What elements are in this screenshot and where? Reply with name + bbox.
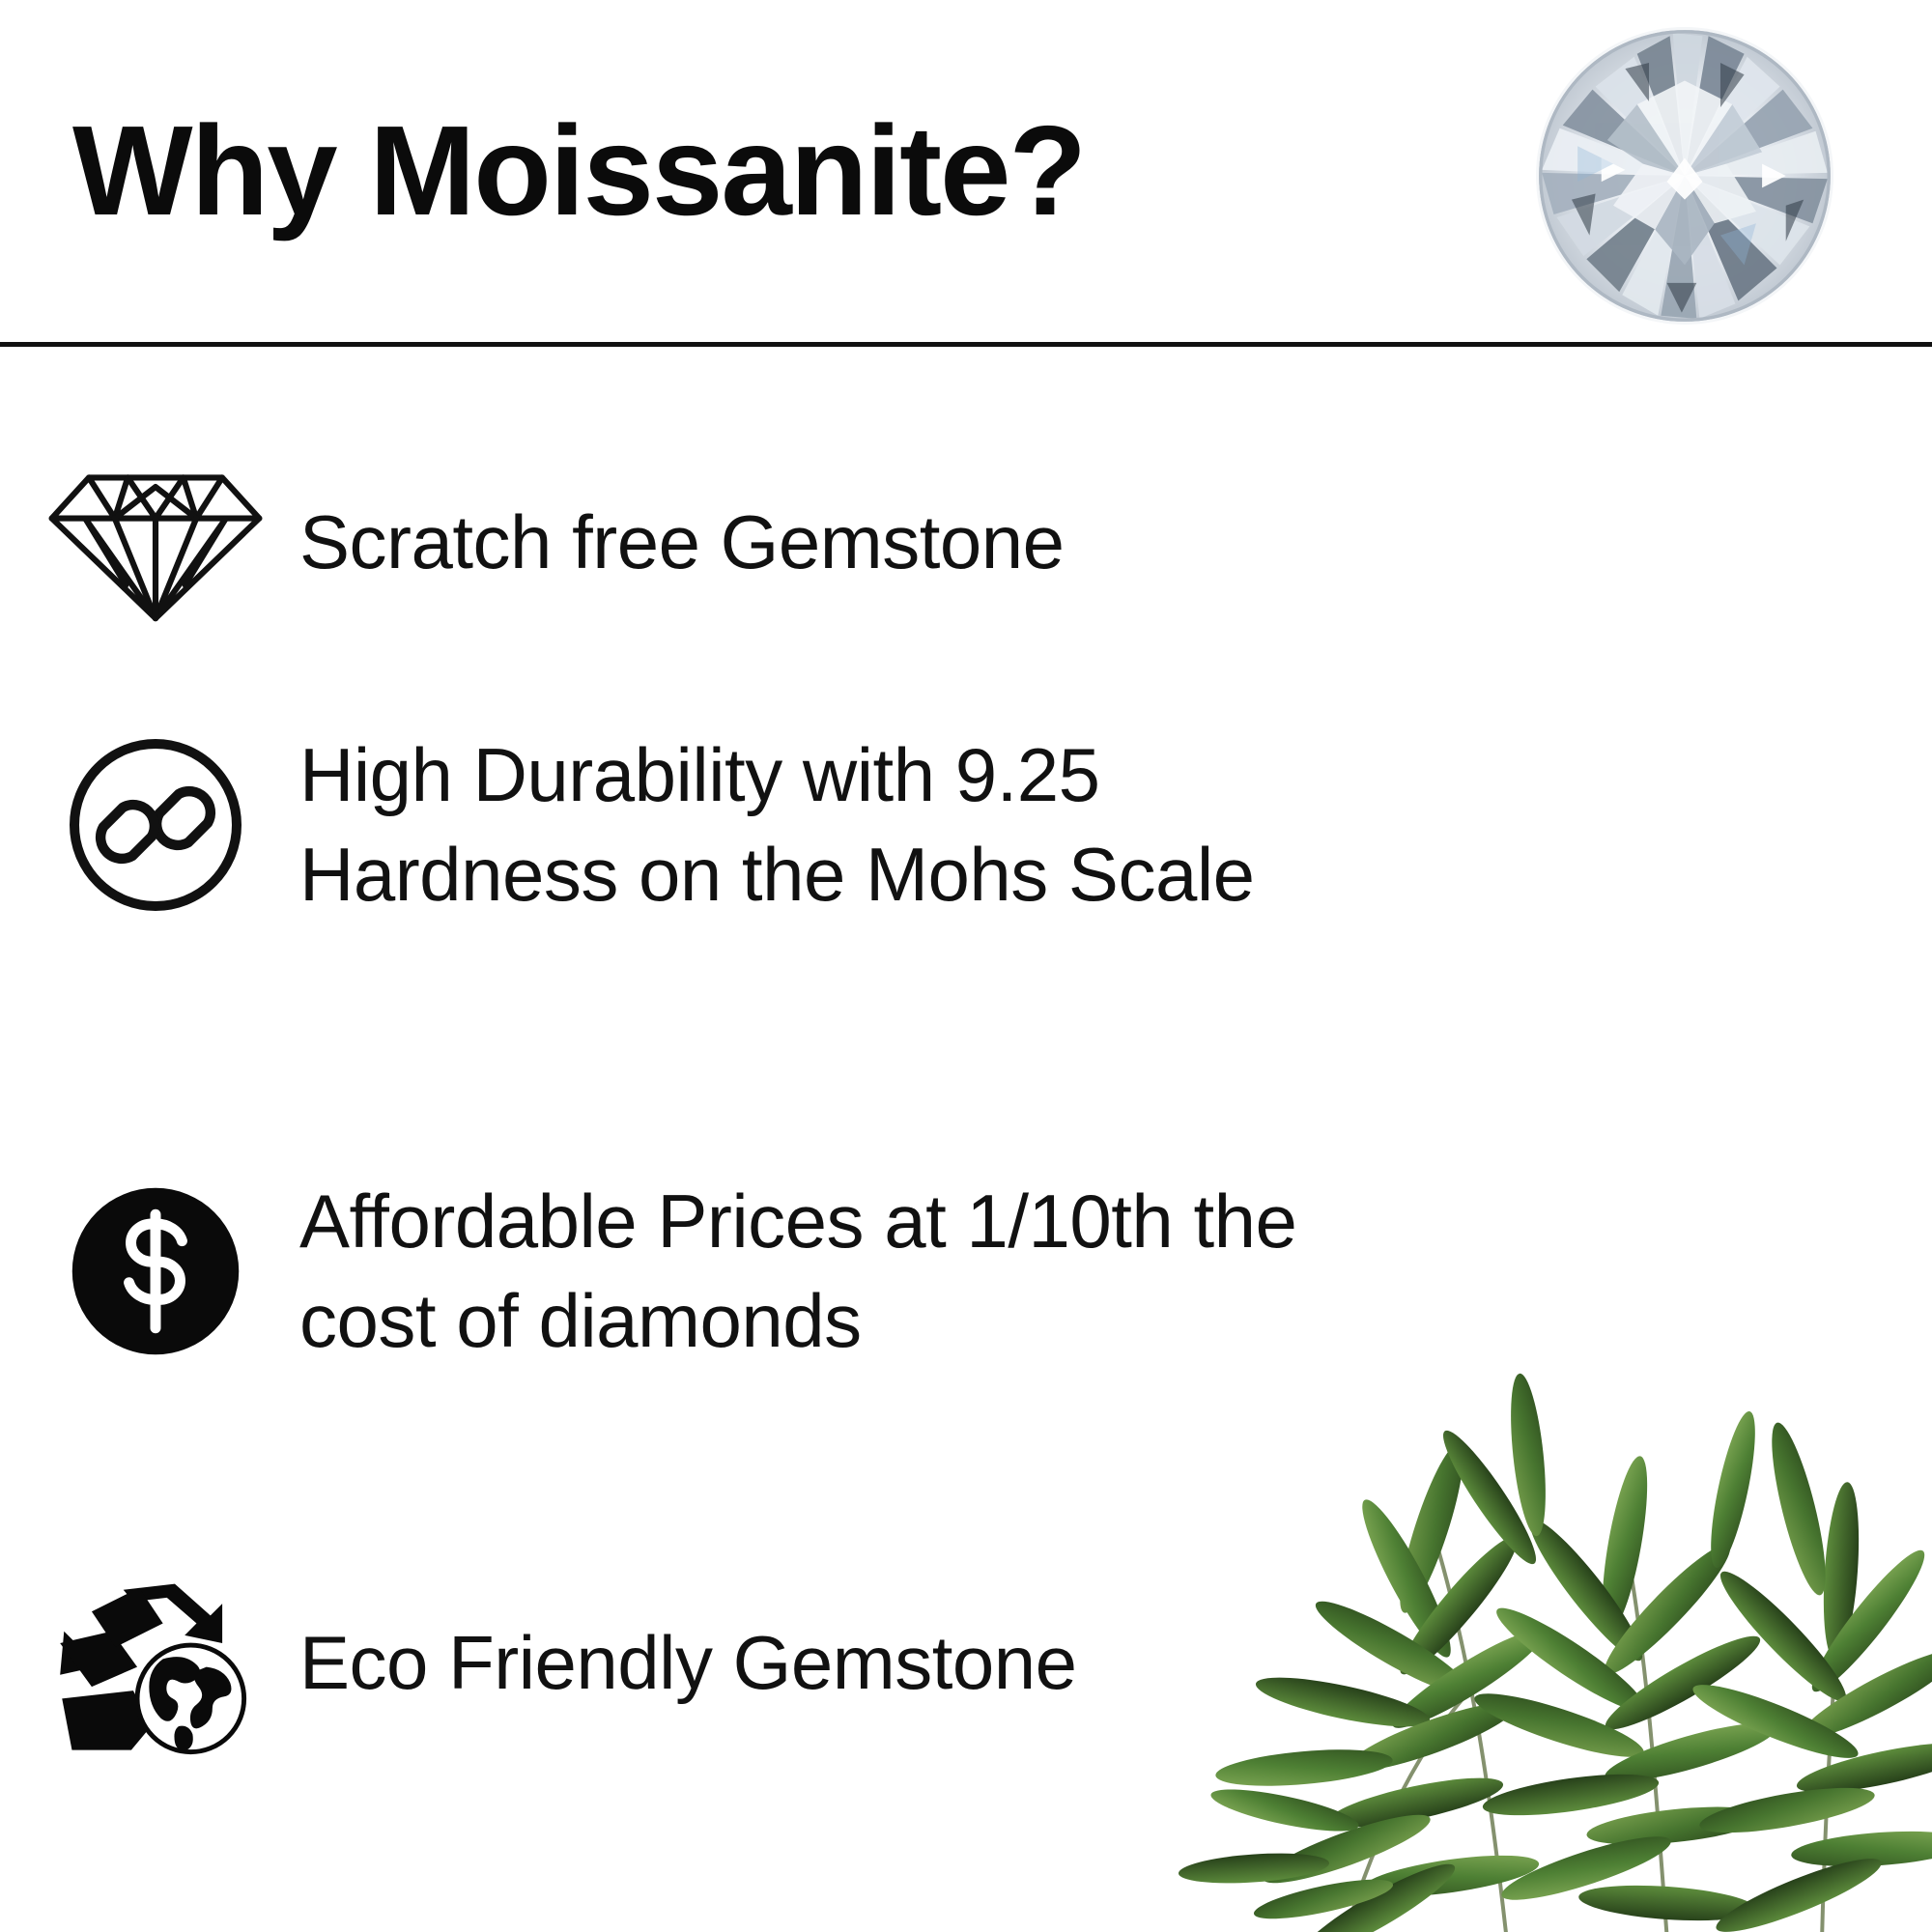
list-item-line: Scratch free Gemstone: [299, 493, 1845, 592]
list-item-line: Hardness on the Mohs Scale: [299, 825, 1845, 924]
list-item-line: cost of diamonds: [299, 1271, 1845, 1371]
list-item-label: High Durability with 9.25 Hardness on th…: [299, 725, 1932, 924]
recycle-globe-icon: [0, 1542, 299, 1783]
list-item-label: Eco Friendly Gemstone: [299, 1613, 1932, 1713]
list-item-label: Affordable Prices at 1/10th the cost of …: [299, 1172, 1932, 1371]
link-circle-icon: [0, 706, 299, 943]
list-item: Scratch free Gemstone: [0, 431, 1932, 653]
page-title: Why Moissanite?: [72, 104, 1085, 239]
diamond-outline-icon: [0, 431, 299, 653]
feature-list: Scratch free Gemstone High Durability wi…: [0, 344, 1932, 1932]
list-item: Affordable Prices at 1/10th the cost of …: [0, 1151, 1932, 1392]
list-item-line: Eco Friendly Gemstone: [299, 1613, 1845, 1713]
list-item-line: Affordable Prices at 1/10th the: [299, 1172, 1845, 1271]
header: Why Moissanite?: [0, 0, 1932, 344]
list-item-label: Scratch free Gemstone: [299, 493, 1932, 592]
dollar-circle-icon: [0, 1151, 299, 1392]
list-item-line: High Durability with 9.25: [299, 725, 1845, 825]
infographic-poster: Why Moissanite?: [0, 0, 1932, 1932]
round-brilliant-diamond-photo: [1536, 27, 1833, 325]
list-item: Eco Friendly Gemstone: [0, 1542, 1932, 1783]
list-item: High Durability with 9.25 Hardness on th…: [0, 706, 1932, 943]
